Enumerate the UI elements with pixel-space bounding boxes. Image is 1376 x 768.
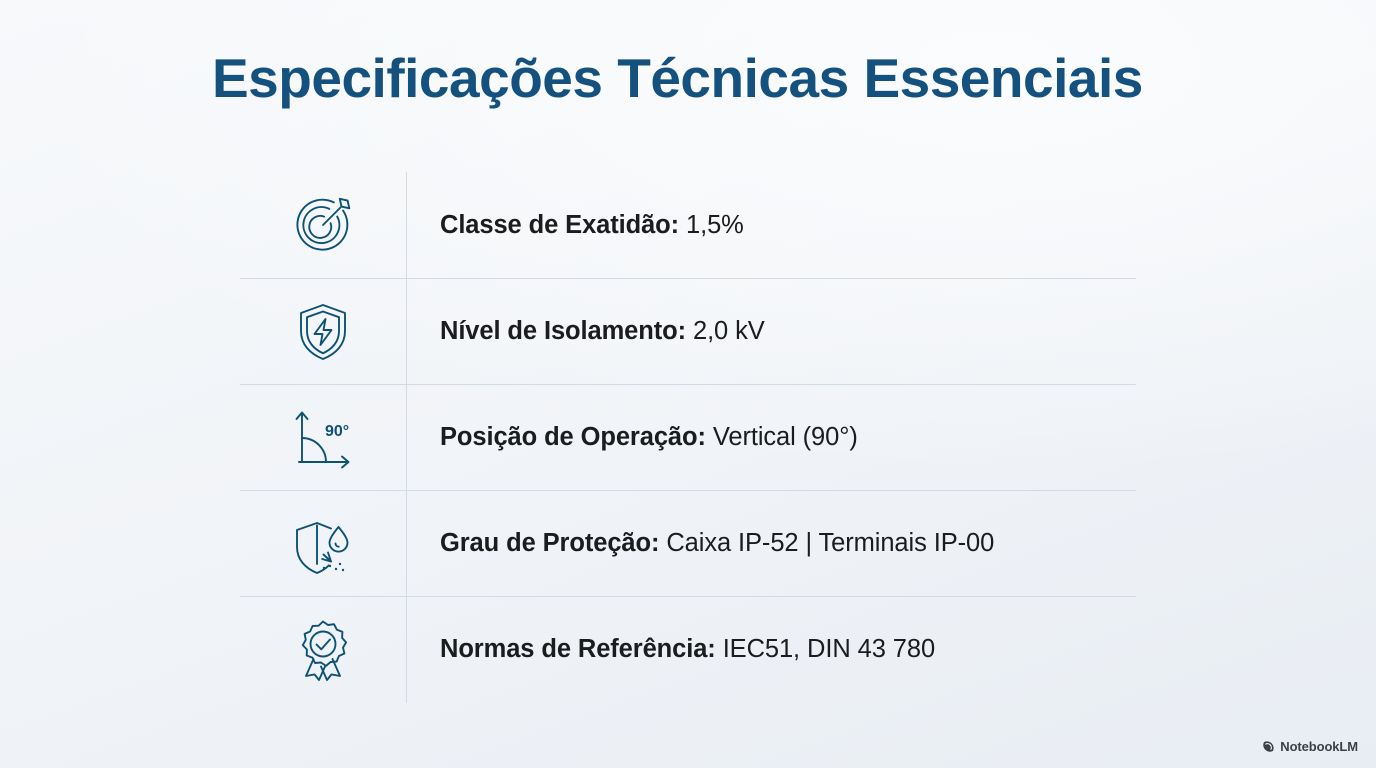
right-angle-90-icon: 90° (240, 385, 406, 490)
spec-label: Grau de Proteção: (440, 529, 659, 557)
spec-label: Nível de Isolamento: (440, 317, 686, 345)
table-row: Classe de Exatidão: 1,5% (240, 172, 1136, 278)
shield-water-drop-icon (240, 491, 406, 596)
spec-text: Grau de Proteção: Caixa IP-52 | Terminai… (406, 529, 1136, 558)
spec-label: Normas de Referência: (440, 635, 716, 663)
target-arrow-icon (240, 172, 406, 278)
spec-value: 1,5% (686, 211, 744, 239)
shield-lightning-icon (240, 279, 406, 384)
table-row: 90° Posição de Operação: Vertical (90°) (240, 384, 1136, 490)
spec-text: Posição de Operação: Vertical (90°) (406, 423, 1136, 452)
slide-canvas: Especificações Técnicas Essenciais Class… (0, 0, 1376, 768)
page-title: Especificações Técnicas Essenciais (212, 48, 1143, 110)
specifications-table: Classe de Exatidão: 1,5% Nível de Isolam… (240, 172, 1136, 702)
notebooklm-label: NotebookLM (1280, 739, 1358, 754)
spec-value: Vertical (90°) (713, 423, 858, 451)
certified-badge-icon (240, 597, 406, 702)
spec-value: 2,0 kV (693, 317, 765, 345)
spec-value: Caixa IP-52 | Terminais IP-00 (666, 529, 994, 557)
angle-label: 90° (325, 423, 349, 440)
spec-value: IEC51, DIN 43 780 (723, 635, 935, 663)
spec-text: Normas de Referência: IEC51, DIN 43 780 (406, 635, 1136, 664)
spec-label: Classe de Exatidão: (440, 211, 679, 239)
spec-text: Classe de Exatidão: 1,5% (406, 211, 1136, 240)
notebooklm-watermark: NotebookLM (1261, 739, 1358, 754)
notebooklm-logo-icon (1261, 740, 1275, 754)
table-row: Grau de Proteção: Caixa IP-52 | Terminai… (240, 490, 1136, 596)
table-row: Normas de Referência: IEC51, DIN 43 780 (240, 596, 1136, 702)
spec-text: Nível de Isolamento: 2,0 kV (406, 317, 1136, 346)
spec-label: Posição de Operação: (440, 423, 706, 451)
table-row: Nível de Isolamento: 2,0 kV (240, 278, 1136, 384)
